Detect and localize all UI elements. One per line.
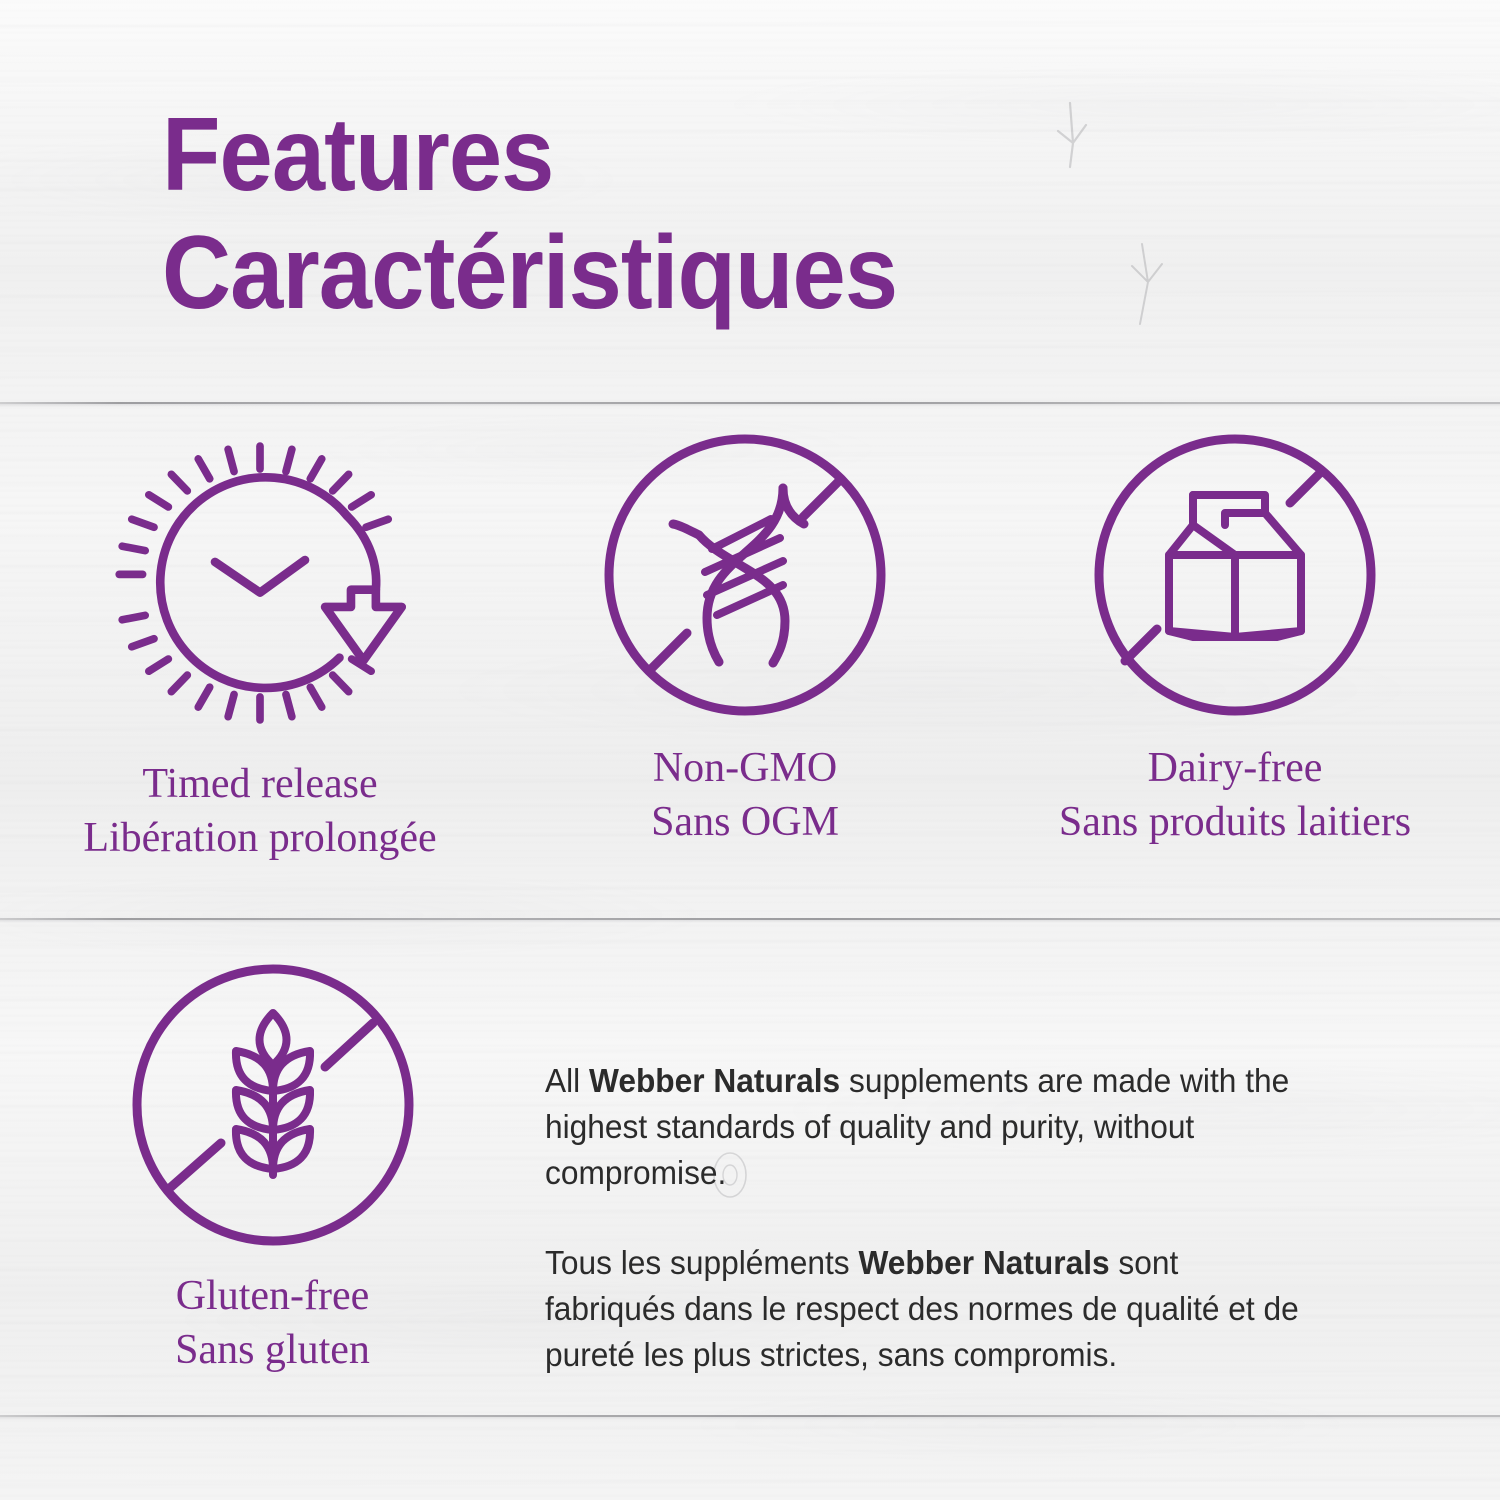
feature-label-fr: Libération prolongée xyxy=(83,811,436,865)
gluten-free-wheat-icon xyxy=(123,955,423,1255)
page-title-french: Caractéristiques xyxy=(162,214,897,332)
feature-label-en: Gluten-free xyxy=(175,1269,370,1323)
product-features-panel: Features Caractéristiques xyxy=(0,0,1500,1500)
feature-label-fr: Sans gluten xyxy=(175,1323,370,1377)
feature-label-dairy-free: Dairy-free Sans produits laitiers xyxy=(1059,741,1411,849)
brand-copy-french: Tous les suppléments Webber Naturals son… xyxy=(545,1240,1313,1378)
features-row-top: Timed release Libération prolongée xyxy=(0,425,1500,865)
feature-label-non-gmo: Non-GMO Sans OGM xyxy=(651,741,839,849)
page-title-english: Features xyxy=(162,96,897,214)
feature-non-gmo: Non-GMO Sans OGM xyxy=(520,425,970,865)
features-row-bottom: Gluten-free Sans gluten All Webber Natur… xyxy=(0,955,1500,1411)
wood-knot-icon xyxy=(1118,238,1178,338)
copy-fr-before: Tous les suppléments xyxy=(545,1244,858,1281)
plank-divider-1 xyxy=(0,402,1500,404)
copy-en-before: All xyxy=(545,1062,589,1099)
feature-label-fr: Sans OGM xyxy=(651,795,839,849)
brand-copy-block: All Webber Naturals supplements are made… xyxy=(545,955,1375,1411)
plank-divider-2 xyxy=(0,918,1500,920)
brand-copy-english: All Webber Naturals supplements are made… xyxy=(545,1058,1313,1196)
feature-label-en: Non-GMO xyxy=(651,741,839,795)
feature-gluten-free: Gluten-free Sans gluten xyxy=(0,955,545,1411)
timed-release-clock-icon xyxy=(95,425,425,741)
feature-label-en: Timed release xyxy=(83,757,436,811)
feature-label-fr: Sans produits laitiers xyxy=(1059,795,1411,849)
page-title: Features Caractéristiques xyxy=(162,96,961,332)
non-gmo-dna-icon xyxy=(595,425,895,725)
brand-name: Webber Naturals xyxy=(858,1244,1109,1281)
brand-name: Webber Naturals xyxy=(589,1062,840,1099)
plank-divider-3 xyxy=(0,1415,1500,1417)
feature-dairy-free: Dairy-free Sans produits laitiers xyxy=(970,425,1500,865)
feature-label-timed-release: Timed release Libération prolongée xyxy=(83,757,436,865)
wood-knot-icon xyxy=(1040,95,1110,185)
feature-label-en: Dairy-free xyxy=(1059,741,1411,795)
feature-timed-release: Timed release Libération prolongée xyxy=(0,425,520,865)
dairy-free-carton-icon xyxy=(1085,425,1385,725)
feature-label-gluten-free: Gluten-free Sans gluten xyxy=(175,1269,370,1377)
